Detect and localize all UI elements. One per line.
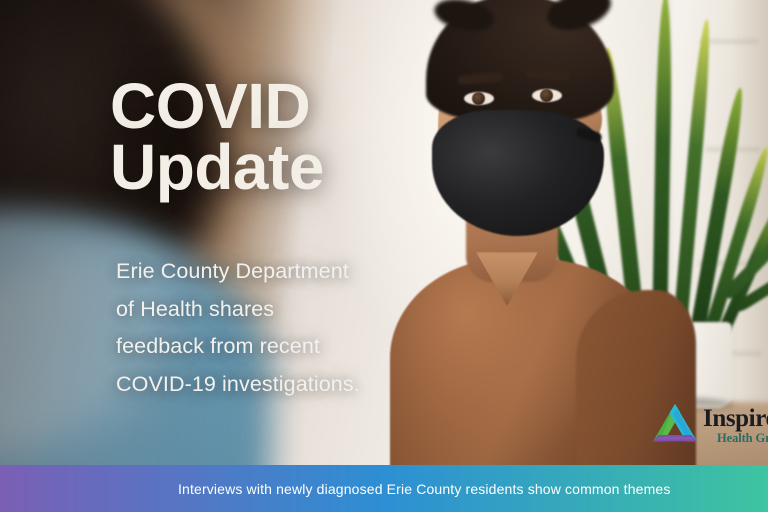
subject-iris [472,92,485,105]
brand-logo[interactable]: Inspired Health Group [652,398,768,450]
inspired-triangle-icon [652,403,698,445]
masked-man-subject [380,0,680,512]
bottom-caption-banner: Interviews with newly diagnosed Erie Cou… [0,465,768,512]
banner-caption-text: Interviews with newly diagnosed Erie Cou… [0,481,670,497]
covid-update-graphic: COVID Update Erie County Department of H… [0,0,768,512]
logo-wordmark: Inspired Health Group [703,404,768,445]
subtitle-text: Erie County Department of Health shares … [116,253,416,403]
page-title: COVID Update [110,76,324,199]
logo-name: Inspired [703,405,768,432]
subject-iris [540,89,553,102]
logo-subtitle: Health Group [703,432,768,445]
